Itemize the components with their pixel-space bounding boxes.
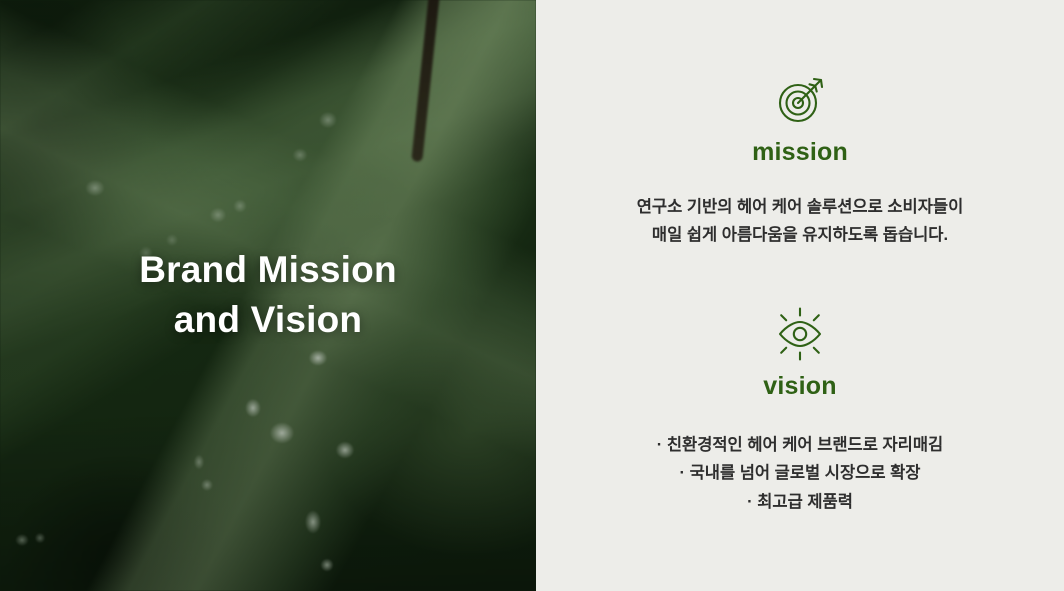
vision-bullet-3: · 최고급 제품력 — [536, 488, 1064, 516]
vision-block: vision · 친환경적인 헤어 케어 브랜드로 자리매김 · 국내를 넘어 … — [536, 306, 1064, 516]
mission-body: 연구소 기반의 헤어 케어 솔루션으로 소비자들이 매일 쉽게 아름다움을 유지… — [536, 193, 1064, 250]
page-title-line-1: Brand Mission — [139, 249, 397, 290]
vision-bullet-1: · 친환경적인 헤어 케어 브랜드로 자리매김 — [536, 431, 1064, 459]
hero-photo-panel: Brand Mission and Vision — [0, 0, 536, 591]
mission-block: mission 연구소 기반의 헤어 케어 솔루션으로 소비자들이 매일 쉽게 … — [536, 72, 1064, 250]
vision-label: vision — [536, 372, 1064, 401]
content-panel: mission 연구소 기반의 헤어 케어 솔루션으로 소비자들이 매일 쉽게 … — [536, 0, 1064, 591]
vision-body: · 친환경적인 헤어 케어 브랜드로 자리매김 · 국내를 넘어 글로벌 시장으… — [536, 431, 1064, 516]
mission-body-line-2: 매일 쉽게 아름다움을 유지하도록 돕습니다. — [536, 221, 1064, 249]
vision-bullet-2: · 국내를 넘어 글로벌 시장으로 확장 — [536, 459, 1064, 487]
mission-label: mission — [536, 138, 1064, 167]
page-title-line-2: and Vision — [174, 299, 362, 340]
mission-body-line-1: 연구소 기반의 헤어 케어 솔루션으로 소비자들이 — [536, 193, 1064, 221]
page-title: Brand Mission and Vision — [0, 245, 536, 344]
target-arrow-icon — [536, 72, 1064, 128]
eye-rays-icon — [536, 306, 1064, 362]
brand-mission-vision-slide: Brand Mission and Vision mission 연구소 기 — [0, 0, 1064, 591]
